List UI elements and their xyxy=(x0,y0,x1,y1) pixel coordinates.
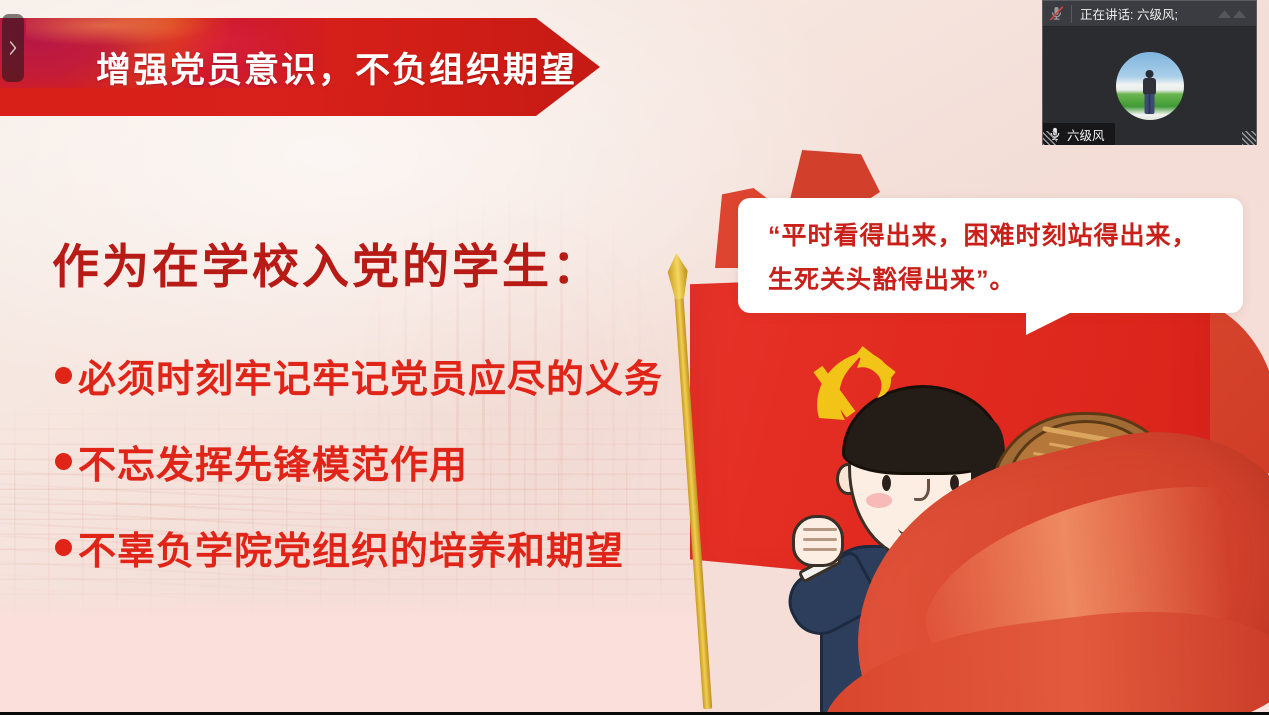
avatar-legs xyxy=(1145,94,1155,114)
list-item: 必须时刻牢记牢记党员应尽的义务 xyxy=(55,332,695,418)
bullet-dot-icon xyxy=(55,453,72,470)
avatar xyxy=(1116,52,1184,120)
quote-line-1: “平时看得出来，困难时刻站得出来， xyxy=(768,214,1221,258)
bullet-text: 不辜负学院党组织的培养和期望 xyxy=(78,520,624,575)
girl-raised-fist xyxy=(934,540,980,588)
girl-blush-left xyxy=(1030,520,1055,534)
video-feed-area[interactable]: 六级风 xyxy=(1043,27,1256,145)
boy-mouth xyxy=(898,517,944,539)
resize-handle-bottom-right[interactable] xyxy=(1242,131,1256,145)
bullet-dot-icon xyxy=(55,367,72,384)
girl-eye-right xyxy=(1104,504,1113,519)
girl-eye-left xyxy=(1046,504,1055,519)
participant-video-panel[interactable]: 正在讲话: 六级风; xyxy=(1042,0,1257,145)
screen-capture: “平时看得出来，困难时刻站得出来， 生死关头豁得出来”。 增强党员意识，不负组织… xyxy=(0,0,1269,715)
microphone-muted-icon[interactable] xyxy=(1043,1,1069,27)
list-item: 不辜负学院党组织的培养和期望 xyxy=(55,504,695,590)
avatar-torso xyxy=(1143,78,1156,95)
boy-raised-fist xyxy=(792,515,844,567)
boy-blush-left xyxy=(866,493,892,508)
background-bottom-fade xyxy=(0,585,700,712)
chevron-right-icon xyxy=(8,40,18,56)
bullet-dot-icon xyxy=(55,539,72,556)
student-girl-figure xyxy=(972,402,1197,712)
slide-heading: 作为在学校入党的学生： xyxy=(52,228,602,297)
double-chevron-icon xyxy=(1216,6,1250,22)
boy-eye-right xyxy=(950,475,959,491)
header-divider xyxy=(1071,5,1072,23)
slide-title: 增强党员意识，不负组织期望 xyxy=(96,42,577,93)
bullet-text: 必须时刻牢记牢记党员应尽的义务 xyxy=(78,348,663,403)
bullet-text: 不忘发挥先锋模范作用 xyxy=(78,434,468,489)
slide-title-banner: 增强党员意识，不负组织期望 xyxy=(0,18,600,116)
video-panel-header: 正在讲话: 六级风; xyxy=(1043,1,1256,27)
avatar-person-silhouette xyxy=(1143,70,1156,114)
collapse-panel-button[interactable] xyxy=(1216,6,1250,22)
hammer-and-sickle-icon xyxy=(805,340,915,440)
quote-line-2: 生死关头豁得出来”。 xyxy=(768,258,1221,302)
expand-panel-button[interactable] xyxy=(2,14,24,82)
avatar-head xyxy=(1146,70,1154,78)
boy-eye-left xyxy=(882,475,891,491)
resize-handle-bottom-left[interactable] xyxy=(1043,131,1057,145)
participant-name: 六级风 xyxy=(1067,125,1105,144)
girl-mouth xyxy=(1058,542,1106,566)
list-item: 不忘发挥先锋模范作用 xyxy=(55,418,695,504)
girl-blush-right xyxy=(1104,520,1129,534)
active-speaker-label: 正在讲话: 六级风; xyxy=(1080,4,1216,23)
quote-speech-bubble: “平时看得出来，困难时刻站得出来， 生死关头豁得出来”。 xyxy=(738,198,1243,313)
slide-bullet-list: 必须时刻牢记牢记党员应尽的义务 不忘发挥先锋模范作用 不辜负学院党组织的培养和期… xyxy=(55,332,695,590)
flagpole-tip xyxy=(666,252,689,299)
